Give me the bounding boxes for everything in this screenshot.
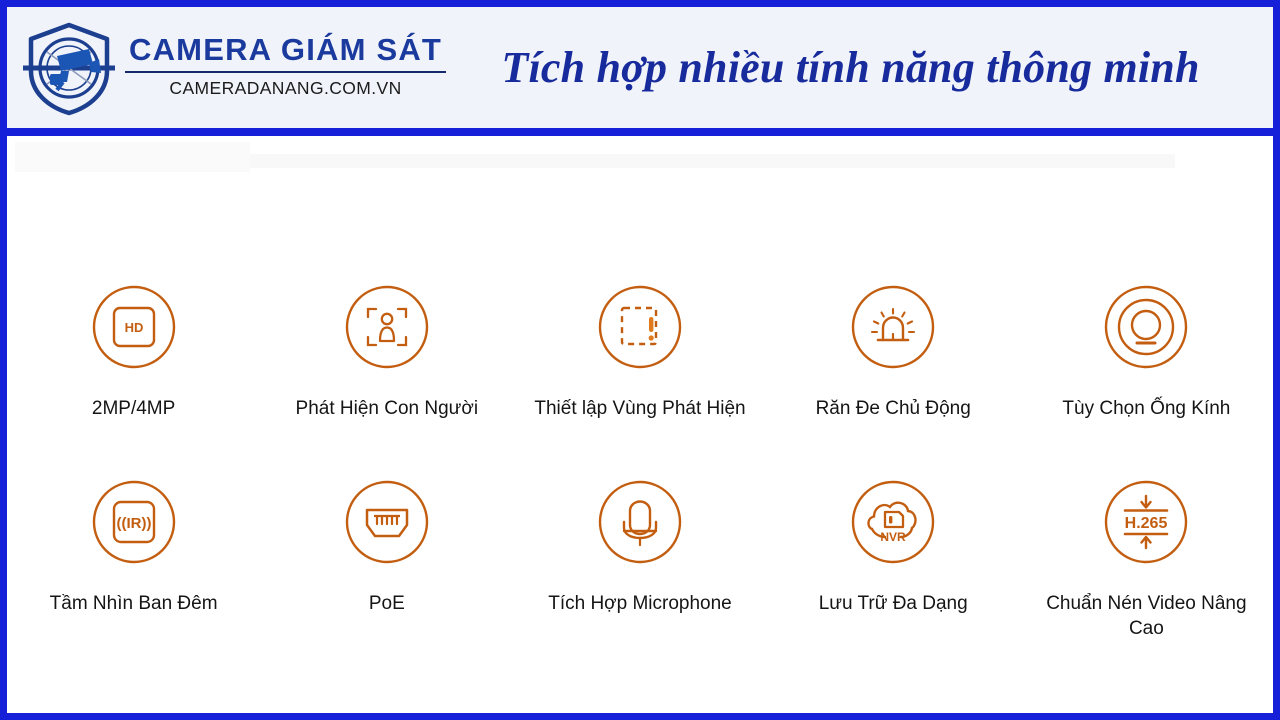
background-artifact xyxy=(15,142,250,172)
poster-canvas: CAMERA GIÁM SÁT CAMERADANANG.COM.VN Tích… xyxy=(0,0,1280,720)
active-deterrence-alarm-icon xyxy=(850,284,936,370)
night-vision-ir-icon: ((IR)) xyxy=(91,479,177,565)
feature-item[interactable]: Răn Đe Chủ Động xyxy=(767,284,1020,421)
svg-text:NVR: NVR xyxy=(881,530,907,544)
feature-item[interactable]: HD 2MP/4MP xyxy=(7,284,260,421)
brand-divider xyxy=(125,71,446,73)
feature-item[interactable]: H.265 Chuẩn Nén Video Nâng Cao xyxy=(1020,479,1273,641)
shield-cctv-logo-icon xyxy=(17,16,121,120)
feature-item[interactable]: Thiết lập Vùng Phát Hiện xyxy=(513,284,766,421)
feature-label: 2MP/4MP xyxy=(92,396,175,421)
brand-logo[interactable]: CAMERA GIÁM SÁT CAMERADANANG.COM.VN xyxy=(7,16,446,120)
lens-options-icon xyxy=(1103,284,1189,370)
built-in-microphone-icon xyxy=(597,479,683,565)
feature-item[interactable]: Tích Hợp Microphone xyxy=(513,479,766,641)
feature-item[interactable]: PoE xyxy=(260,479,513,641)
feature-grid: HD 2MP/4MP xyxy=(7,284,1273,641)
brand-website: CAMERADANANG.COM.VN xyxy=(125,78,446,101)
feature-item[interactable]: Tùy Chọn Ống Kính xyxy=(1020,284,1273,421)
background-artifact xyxy=(250,154,1175,168)
feature-label: PoE xyxy=(369,591,405,616)
header-band: CAMERA GIÁM SÁT CAMERADANANG.COM.VN Tích… xyxy=(7,7,1273,136)
feature-label: Lưu Trữ Đa Dạng xyxy=(819,591,968,616)
feature-item[interactable]: ((IR)) Tầm Nhìn Ban Đêm xyxy=(7,479,260,641)
feature-label: Thiết lập Vùng Phát Hiện xyxy=(534,396,745,421)
feature-label: Tầm Nhìn Ban Đêm xyxy=(50,591,218,616)
feature-label: Răn Đe Chủ Động xyxy=(816,396,971,421)
svg-text:HD: HD xyxy=(124,320,143,335)
svg-text:((IR)): ((IR)) xyxy=(116,515,151,532)
feature-label: Tùy Chọn Ống Kính xyxy=(1062,396,1230,421)
cloud-nvr-storage-icon: NVR xyxy=(850,479,936,565)
feature-label: Chuẩn Nén Video Nâng Cao xyxy=(1030,591,1262,641)
brand-name: CAMERA GIÁM SÁT xyxy=(125,34,446,71)
brand-wordmark: CAMERA GIÁM SÁT CAMERADANANG.COM.VN xyxy=(125,34,446,102)
human-detection-icon xyxy=(344,284,430,370)
features-section: HD 2MP/4MP xyxy=(7,136,1273,712)
page-title: Tích hợp nhiều tính năng thông minh xyxy=(446,42,1273,93)
detection-zone-icon xyxy=(597,284,683,370)
feature-item[interactable]: Phát Hiện Con Người xyxy=(260,284,513,421)
h265-compression-icon: H.265 xyxy=(1103,479,1189,565)
feature-item[interactable]: NVR Lưu Trữ Đa Dạng xyxy=(767,479,1020,641)
poe-ethernet-port-icon xyxy=(344,479,430,565)
feature-label: Phát Hiện Con Người xyxy=(296,396,479,421)
svg-text:H.265: H.265 xyxy=(1125,515,1168,532)
feature-label: Tích Hợp Microphone xyxy=(548,591,732,616)
hd-resolution-icon: HD xyxy=(91,284,177,370)
